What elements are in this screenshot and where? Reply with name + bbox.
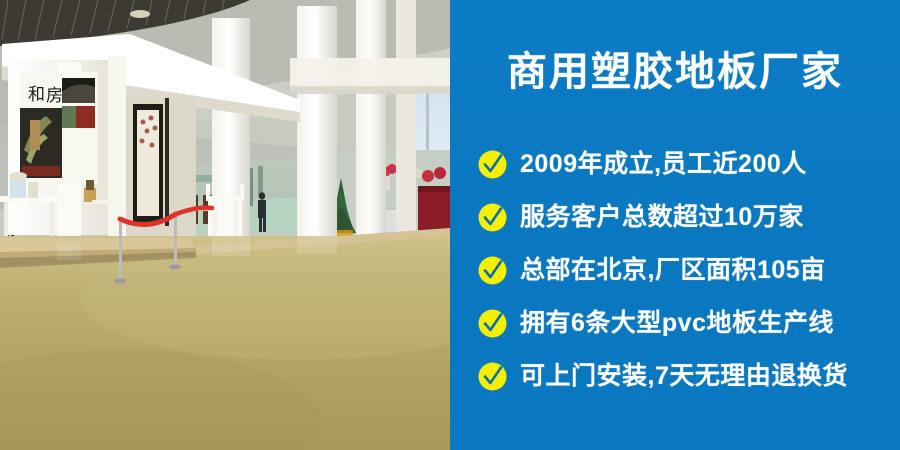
feature-list: 2009年成立,员工近200人 服务客户总数超过10万家: [450, 138, 900, 403]
showroom-photo-illustration: 和 房: [0, 0, 450, 450]
list-item: 2009年成立,员工近200人: [450, 138, 900, 191]
svg-text:房: 房: [46, 86, 63, 106]
feature-text: 可上门安装,7天无理由退换货: [520, 364, 848, 389]
page-title: 商用塑胶地板厂家: [450, 52, 900, 92]
promo-banner: 和 房: [0, 0, 900, 450]
list-item: 拥有6条大型pvc地板生产线: [450, 297, 900, 350]
list-item: 总部在北京,厂区面积105亩: [450, 244, 900, 297]
info-panel: 商用塑胶地板厂家 2009年成立,员工近200人: [450, 0, 900, 450]
list-item: 服务客户总数超过10万家: [450, 191, 900, 244]
check-circle-icon: [478, 309, 507, 338]
feature-text: 拥有6条大型pvc地板生产线: [520, 311, 834, 336]
svg-text:和: 和: [28, 85, 45, 105]
feature-text: 总部在北京,厂区面积105亩: [520, 258, 826, 283]
check-circle-icon: [478, 203, 507, 232]
feature-text: 服务客户总数超过10万家: [520, 205, 804, 230]
check-circle-icon: [478, 150, 507, 179]
showroom-photo: 和 房: [0, 0, 450, 450]
list-item: 可上门安装,7天无理由退换货: [450, 350, 900, 403]
feature-text: 2009年成立,员工近200人: [520, 152, 807, 177]
check-circle-icon: [478, 362, 507, 391]
check-circle-icon: [478, 256, 507, 285]
